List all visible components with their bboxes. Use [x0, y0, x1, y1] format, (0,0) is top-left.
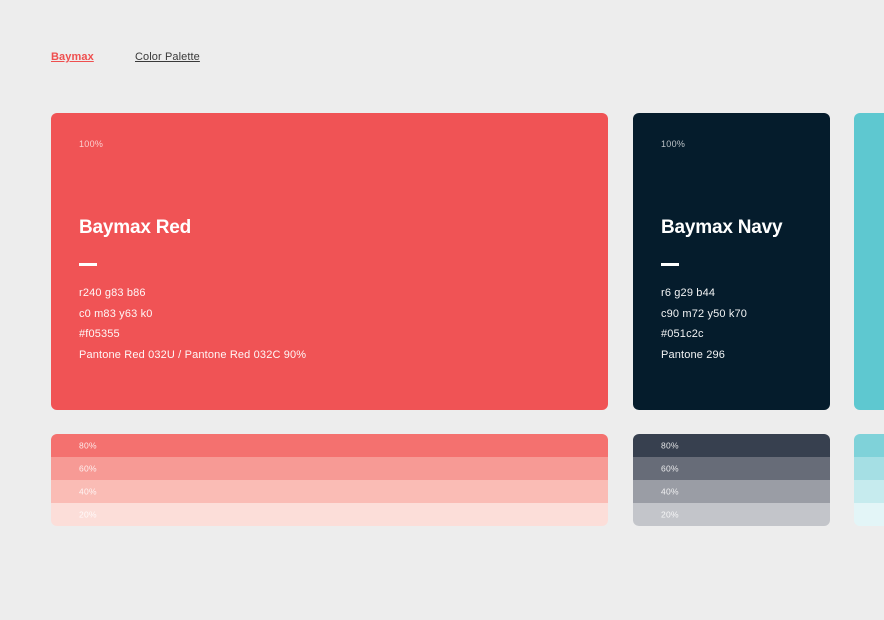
tint-row[interactable]	[854, 503, 884, 526]
color-card-swatch-3[interactable]	[854, 113, 884, 410]
card-spec-list: r240 g83 b86c0 m83 y63 k0#f05355Pantone …	[79, 283, 596, 365]
card-spec-line: r6 g29 b44	[661, 283, 818, 304]
swatch-group-baymax-navy: 100%Baymax Navyr6 g29 b44c90 m72 y50 k70…	[633, 113, 830, 410]
tint-row[interactable]: 20%	[633, 503, 830, 526]
tint-percent-label: 20%	[661, 509, 679, 520]
tint-percent-label: 40%	[661, 486, 679, 497]
tint-row[interactable]: 20%	[51, 503, 608, 526]
color-palette-board: 100%Baymax Redr240 g83 b86c0 m83 y63 k0#…	[0, 0, 884, 620]
tint-row[interactable]	[854, 480, 884, 503]
tint-row[interactable]: 60%	[633, 457, 830, 480]
tint-row[interactable]	[854, 457, 884, 480]
card-spec-line: #f05355	[79, 324, 596, 345]
card-divider-rule	[79, 263, 97, 266]
card-spec-line: c0 m83 y63 k0	[79, 304, 596, 325]
card-spec-line: r240 g83 b86	[79, 283, 596, 304]
card-spec-line: Pantone Red 032U / Pantone Red 032C 90%	[79, 345, 596, 366]
card-spec-list: r6 g29 b44c90 m72 y50 k70#051c2cPantone …	[661, 283, 818, 365]
tint-percent-label: 80%	[79, 440, 97, 451]
card-percent-label: 100%	[661, 138, 685, 150]
tint-row[interactable]: 60%	[51, 457, 608, 480]
tint-stack-baymax-red: 80%60%40%20%	[51, 434, 608, 526]
tint-stack-swatch-3	[854, 434, 884, 526]
card-percent-label: 100%	[79, 138, 103, 150]
color-card-baymax-navy[interactable]: 100%Baymax Navyr6 g29 b44c90 m72 y50 k70…	[633, 113, 830, 410]
tint-percent-label: 80%	[661, 440, 679, 451]
card-divider-rule	[661, 263, 679, 266]
tint-percent-label: 40%	[79, 486, 97, 497]
tint-row[interactable]: 40%	[633, 480, 830, 503]
card-spec-line: c90 m72 y50 k70	[661, 304, 818, 325]
color-card-baymax-red[interactable]: 100%Baymax Redr240 g83 b86c0 m83 y63 k0#…	[51, 113, 608, 410]
card-spec-line: Pantone 296	[661, 345, 818, 366]
card-title: Baymax Red	[79, 216, 191, 240]
tint-row[interactable]: 80%	[51, 434, 608, 457]
tint-stack-baymax-navy: 80%60%40%20%	[633, 434, 830, 526]
card-title: Baymax Navy	[661, 216, 782, 240]
tint-row[interactable]	[854, 434, 884, 457]
tint-row[interactable]: 40%	[51, 480, 608, 503]
tint-percent-label: 60%	[661, 463, 679, 474]
swatch-group-swatch-3	[854, 113, 884, 410]
tint-row[interactable]: 80%	[633, 434, 830, 457]
tint-percent-label: 20%	[79, 509, 97, 520]
card-spec-line: #051c2c	[661, 324, 818, 345]
swatch-group-baymax-red: 100%Baymax Redr240 g83 b86c0 m83 y63 k0#…	[51, 113, 608, 410]
tint-percent-label: 60%	[79, 463, 97, 474]
